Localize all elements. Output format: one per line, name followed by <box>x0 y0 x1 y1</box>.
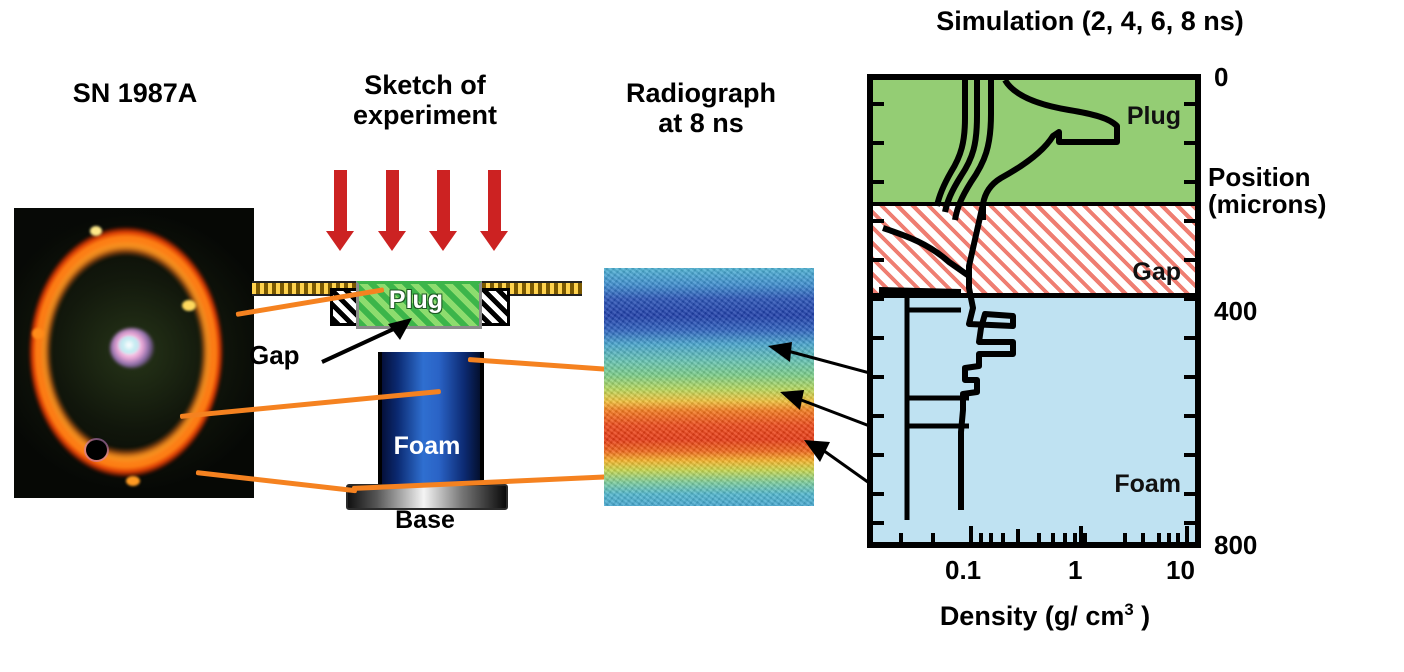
x-tick <box>1176 533 1180 542</box>
sn-knot <box>182 300 196 311</box>
simulation-plot: Plug Gap Foam <box>867 74 1201 548</box>
x-tick <box>1083 533 1087 542</box>
connector-line <box>468 357 618 372</box>
sketch-title-line-1: Sketch of <box>300 70 550 100</box>
y-tick <box>1184 492 1195 496</box>
y-tick <box>1184 219 1195 223</box>
y-tick <box>1184 336 1195 340</box>
y-tick <box>1184 102 1195 106</box>
y-axis-tick-label: 800 <box>1214 530 1257 561</box>
y-tick <box>873 375 884 379</box>
x-axis-title: Density (g/ cm3 ) <box>880 600 1210 632</box>
y-tick <box>873 414 884 418</box>
radiograph-title-line-2: at 8 ns <box>586 108 816 138</box>
y-tick <box>873 258 884 262</box>
x-tick-major <box>1185 526 1189 542</box>
x-tick <box>1157 533 1161 542</box>
sn-knot <box>32 328 44 339</box>
sketch-title-line-2: experiment <box>300 100 550 130</box>
sn-core-bright <box>118 336 140 354</box>
y-tick <box>1184 297 1195 301</box>
y-tick <box>1184 180 1195 184</box>
y-axis-title-line-1: Position <box>1208 164 1398 191</box>
sn-panel-title: SN 1987A <box>20 78 250 108</box>
y-tick <box>873 521 884 525</box>
x-tick <box>1123 533 1127 542</box>
y-tick <box>1184 258 1195 262</box>
x-axis-tick-label: 1 <box>1068 555 1082 586</box>
x-tick-major <box>1079 526 1083 542</box>
y-tick <box>873 336 884 340</box>
y-tick <box>873 141 884 145</box>
x-tick <box>1167 533 1171 542</box>
simulation-panel-title: Simulation (2, 4, 6, 8 ns) <box>860 6 1320 36</box>
drive-arrow-icon <box>334 170 347 232</box>
x-tick <box>989 533 993 542</box>
x-axis-tick-label: 0.1 <box>945 555 981 586</box>
x-tick-major <box>969 526 973 542</box>
y-tick <box>873 453 884 457</box>
y-axis-tick-label: 400 <box>1214 296 1257 327</box>
x-tick <box>1073 533 1077 542</box>
y-tick <box>1184 375 1195 379</box>
y-axis-title-line-2: (microns) <box>1208 191 1398 218</box>
y-axis-tick-label: 0 <box>1214 62 1228 93</box>
x-tick <box>1037 533 1041 542</box>
x-tick <box>1051 533 1055 542</box>
x-axis-tick-label: 10 <box>1166 555 1195 586</box>
x-tick <box>899 533 903 542</box>
base-label: Base <box>346 506 504 535</box>
radiograph-title-line-1: Radiograph <box>586 78 816 108</box>
foam-cylinder <box>378 352 484 487</box>
foam-label: Foam <box>372 432 482 461</box>
x-tick <box>931 533 935 542</box>
y-tick <box>873 102 884 106</box>
y-tick <box>873 297 884 301</box>
x-tick <box>1141 533 1145 542</box>
y-tick <box>1184 453 1195 457</box>
y-tick <box>873 492 884 496</box>
gap-label: Gap <box>249 340 300 371</box>
sketch-panel-title: Sketch of experiment <box>300 70 550 130</box>
drive-arrow-icon <box>386 170 399 232</box>
y-axis-title: Position (microns) <box>1208 164 1398 217</box>
radiograph-panel-title: Radiograph at 8 ns <box>586 78 816 138</box>
x-tick <box>1001 533 1005 542</box>
y-tick <box>1184 521 1195 525</box>
sn1987a-image <box>14 208 254 498</box>
y-tick <box>1184 414 1195 418</box>
y-tick <box>1184 141 1195 145</box>
x-tick <box>1016 529 1020 542</box>
sn-knot <box>126 476 140 486</box>
sn-dark-spot <box>86 440 107 460</box>
y-tick <box>873 219 884 223</box>
x-tick <box>979 533 983 542</box>
x-tick <box>1063 533 1067 542</box>
density-profile-curves <box>873 80 1195 542</box>
y-tick <box>873 180 884 184</box>
drive-arrow-icon <box>488 170 501 232</box>
sn-knot <box>90 226 102 236</box>
drive-arrow-icon <box>437 170 450 232</box>
